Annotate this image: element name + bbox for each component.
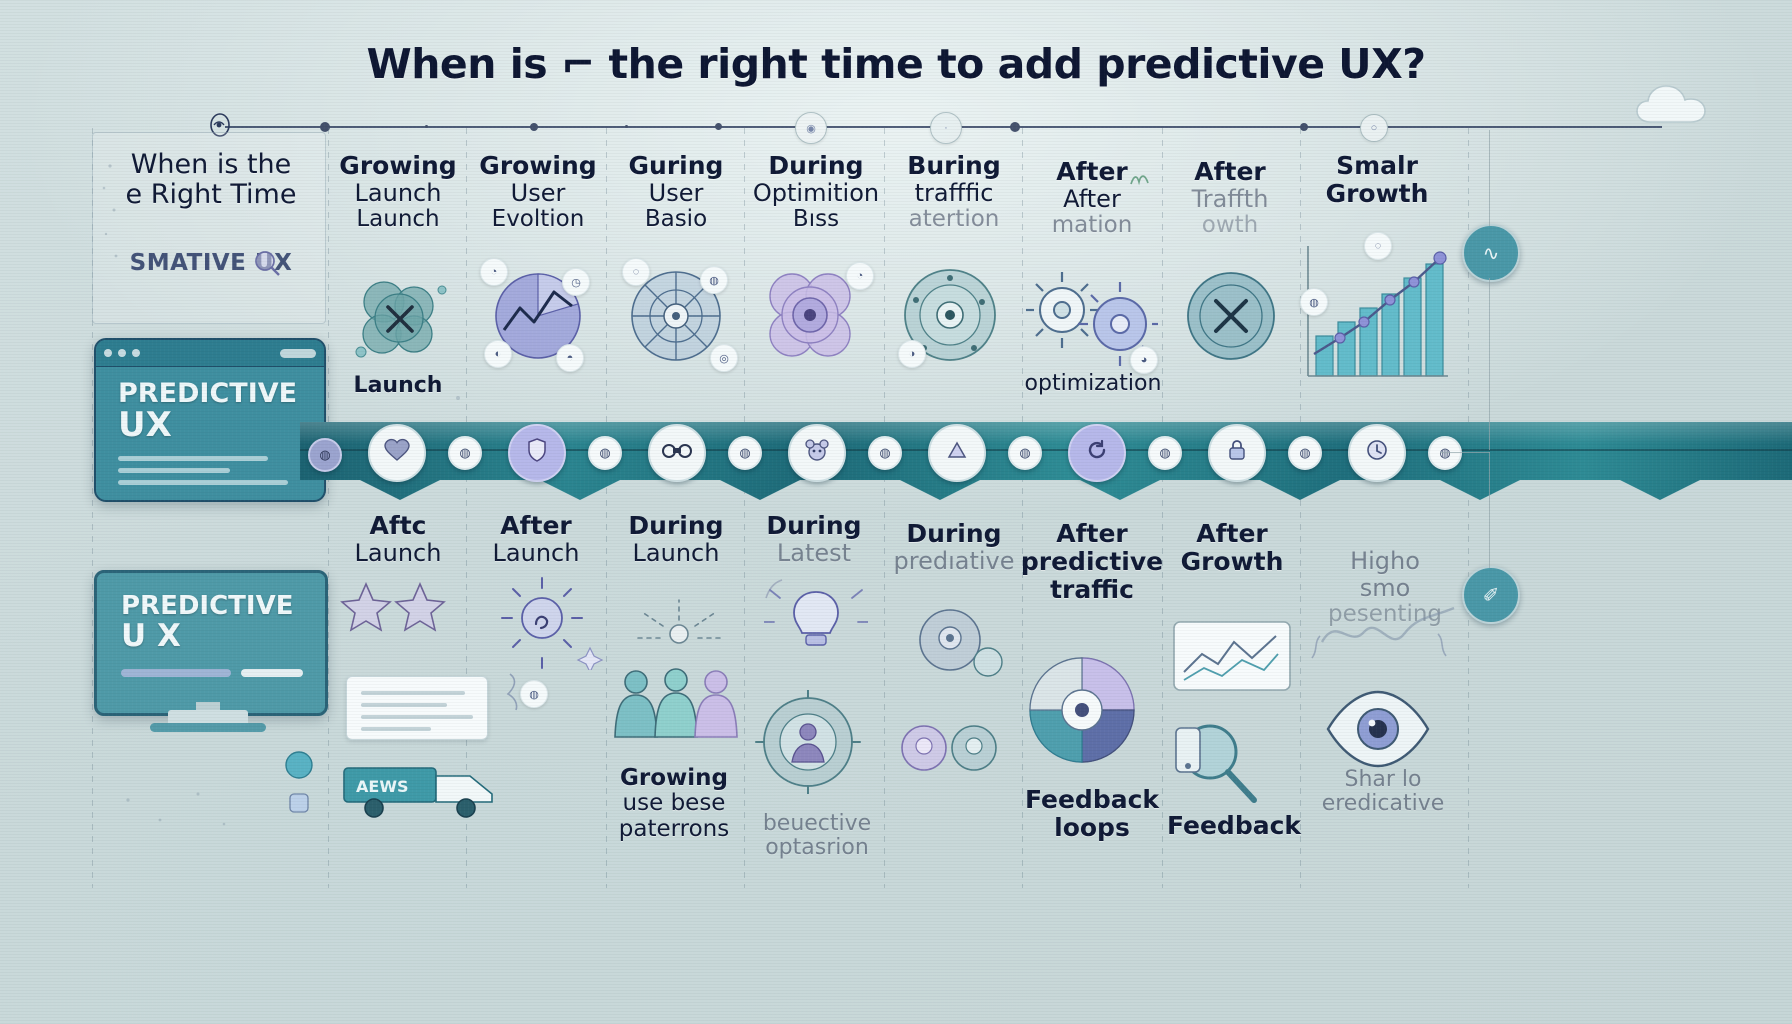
axis-tick [625,125,628,128]
header-card-subtitle: SMATIVE UX [100,250,322,276]
badge-icon: ◷ [562,268,590,296]
gauge-user-icon [752,690,864,799]
monitor-card-title: PREDICTIVE U X [121,593,293,653]
line-squiggle-icon [1316,600,1466,665]
ribbon-node-dot[interactable]: ◍ [448,436,482,470]
ribbon-node-bear[interactable] [788,424,846,482]
top-label-3: During Optimition Bıss [742,152,890,233]
speckle-mark [120,780,240,845]
axis-dot [1300,123,1308,131]
bottom-label-0: Aftc Launch [330,512,466,567]
ribbon-node-dot[interactable]: ◍ [868,436,902,470]
ribbon-node-clock[interactable] [1348,424,1406,482]
badge-icon: ◍ [1300,288,1328,316]
cluster-burst-icon [344,268,456,377]
people-group-icon [606,660,746,775]
eye-visibility-icon [1322,688,1434,770]
ribbon-node-dot[interactable]: ◍ [588,436,622,470]
axis-marker-target: ◉ [795,112,827,144]
badge-icon: ◑ [898,340,926,368]
pencil-icon: ✐ [1483,583,1500,608]
top-label-2: Guring User Basio [608,152,744,233]
bottom-label-2: During Launch [606,512,746,567]
bottom-icon-caption-2: Growing use bese paterrons [598,766,750,842]
axis-marker-end: ○ [1360,114,1388,142]
target-icon: ◉ [796,113,826,143]
timeline-axis: ◉ · ○ [225,126,1662,128]
top-icon-caption-5: optimization [1022,372,1164,396]
badge-icon: ◕ [1130,346,1158,374]
top-label-7: Smalr Growth [1302,152,1452,208]
top-icon-caption-0: Launch [330,374,466,398]
bubble-icon [282,748,316,787]
heart-icon [384,438,410,468]
bottom-label-3: During Latest [744,512,884,567]
top-label-6: After Traffth owth [1160,158,1300,239]
dot-icon: ◍ [319,447,330,463]
page-title: When is ⌐ the right time to add predicti… [0,40,1792,88]
bottom-icon-caption-3: beuective optasrion [742,812,892,860]
ribbon-node-heart[interactable] [368,424,426,482]
dot-icon: ◍ [1159,445,1170,461]
document-card [346,676,488,740]
cloud-icon [1634,82,1730,128]
connector-line [1489,452,1490,568]
dot-icon: ◍ [739,445,750,461]
bubble-icon [286,790,312,821]
two-stars-icon [336,578,456,647]
clock-icon [1365,438,1389,468]
badge-icon: ◍ [700,266,728,294]
ribbon-node-lock[interactable] [1208,424,1266,482]
badge-icon: ◔ [480,258,508,286]
badge-icon: ◎ [710,344,738,372]
ribbon-node-dot[interactable]: ◍ [1148,436,1182,470]
ribbon-node-dot[interactable]: ◍ [1288,436,1322,470]
address-pill [280,349,316,358]
dot-icon: ○ [1361,115,1387,141]
window-dot [104,349,112,357]
bottom-label-4: During predıative [882,520,1026,575]
coin-stack-icon [902,600,1010,691]
ribbon-node-dot[interactable]: ◍ [1428,436,1462,470]
edge-badge-pencil[interactable]: ✐ [1462,566,1520,624]
badge-icon: ◔ [846,262,874,290]
dot-icon: ◍ [1019,445,1030,461]
axis-marker-plain: · [930,112,962,144]
axis-dot [715,123,722,130]
axis-dot [1010,122,1020,132]
dot-icon: ◍ [1299,445,1310,461]
window-dot [132,349,140,357]
connector-line [1489,278,1490,450]
bottom-label-5: After predictive traffic [1020,520,1164,604]
header-card-title: When is the e Right Time [96,150,326,210]
dot-icon: · [931,113,961,143]
target-cross-icon [1176,264,1286,373]
dot-icon: ◍ [459,445,470,461]
axis-tick [425,125,428,128]
bear-icon [804,438,830,468]
bottom-icon-caption-5: Feedback loops [1018,786,1166,841]
dot-icon: ◍ [879,445,890,461]
shield-icon [526,437,548,469]
dashed-burst-icon [612,594,746,669]
axis-dot [530,123,538,131]
browser-title-bar [96,340,324,367]
lock-icon [1226,438,1248,468]
donut-chart-icon [1022,650,1142,770]
ribbon-node-binoculars[interactable] [648,424,706,482]
top-label-4: Buring trafffic atertion [884,152,1024,233]
lightbulb-idea-icon [764,582,868,673]
badge-icon: ◓ [556,344,584,372]
delivery-truck-icon: AEWS [340,758,520,820]
badge-icon: ◌ [622,258,650,286]
bottom-icon-caption-6: Feedback [1160,812,1308,840]
badge-icon: ◍ [520,680,548,708]
monitor-base [150,723,266,732]
dot-icon: ◍ [1439,445,1450,461]
magnifier-icon [1172,716,1264,808]
wave-icon: ∿ [1483,241,1500,266]
window-dot [118,349,126,357]
bottom-label-6: After Growth [1160,520,1304,576]
desktop-monitor-icon[interactable]: PREDICTIVE U X [94,570,328,716]
top-label-5: After After mation [1022,158,1162,239]
connector-line [1440,452,1490,453]
coin-pair-icon [896,712,1006,787]
binoculars-icon [662,440,692,466]
ribbon-node-refresh[interactable] [1068,424,1126,482]
dot-icon: ◍ [599,445,610,461]
ribbon-node-dot[interactable]: ◍ [1008,436,1042,470]
top-label-0: Growing Launch Launch [330,152,466,233]
ribbon-node-dot[interactable]: ◍ [728,436,762,470]
refresh-icon [1085,438,1109,468]
badge-icon: ◌ [1364,232,1392,260]
top-label-1: Growing User Evoltion [470,152,606,233]
badge-icon: ◐ [484,340,512,368]
svg-text:AEWS: AEWS [356,777,408,796]
edge-badge-wave[interactable]: ∿ [1462,224,1520,282]
chevron-up-icon [946,439,968,467]
connector-line [1489,130,1490,226]
ribbon-node-chevron-up[interactable] [928,424,986,482]
ribbon-node-start[interactable]: ◍ [308,438,342,472]
bottom-label-1: After Launch [468,512,604,567]
ribbon-node-shield[interactable] [508,424,566,482]
sparkle-swirl-icon [486,574,606,675]
line-graph-card-icon [1172,620,1292,692]
bottom-icon-caption-7: Shar lo eredicative [1300,768,1466,816]
